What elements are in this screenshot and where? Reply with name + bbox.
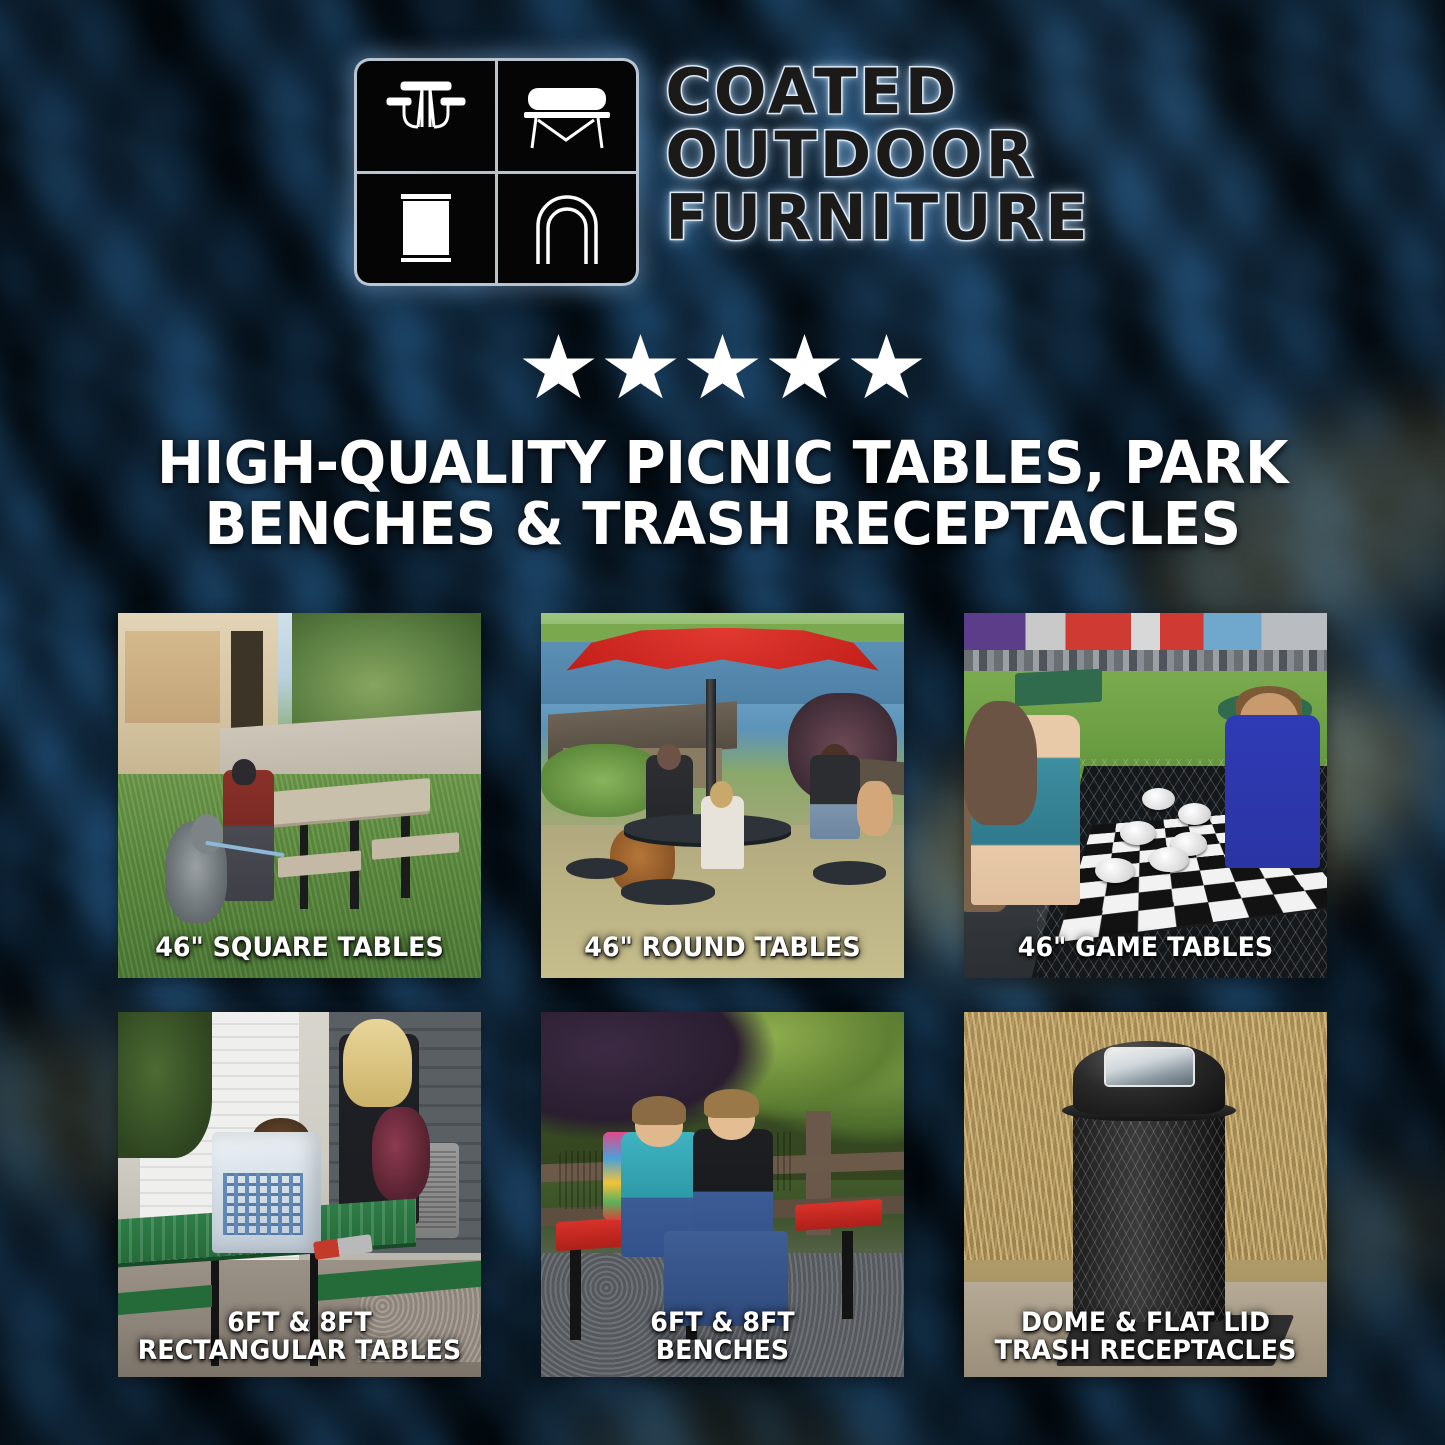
product-tile-caption: 6FT & 8FT BENCHES: [558, 1309, 888, 1365]
caption-line: BENCHES: [558, 1337, 888, 1365]
page-headline: HIGH-QUALITY PICNIC TABLES, PARK BENCHES…: [93, 432, 1352, 555]
product-tile-caption: 46" SQUARE TABLES: [135, 934, 465, 962]
product-tile-benches[interactable]: 6FT & 8FT BENCHES: [541, 1012, 904, 1377]
star-icon: [523, 334, 595, 404]
arch-bike-rack-icon: [498, 174, 636, 284]
headline-line-1: HIGH-QUALITY PICNIC TABLES, PARK: [93, 432, 1352, 493]
picnic-table-icon: [357, 61, 495, 171]
logo-mark: [354, 58, 639, 286]
brand-name-line-2: OUTDOOR: [665, 125, 1090, 186]
product-tile-round-tables[interactable]: 46" ROUND TABLES: [541, 613, 904, 978]
product-photo: [541, 613, 904, 978]
product-tile-caption: DOME & FLAT LID TRASH RECEPTACLES: [981, 1309, 1311, 1365]
star-rating: [0, 334, 1445, 404]
product-tile-caption: 46" ROUND TABLES: [558, 934, 888, 962]
brand-logo: COATED OUTDOOR FURNITURE: [0, 58, 1445, 286]
star-icon: [769, 334, 841, 404]
caption-line: 46" ROUND TABLES: [558, 934, 888, 962]
product-tile-caption: 6FT & 8FT RECTANGULAR TABLES: [135, 1309, 465, 1365]
caption-line: 46" SQUARE TABLES: [135, 934, 465, 962]
product-photo: [964, 613, 1327, 978]
product-tile-caption: 46" GAME TABLES: [981, 934, 1311, 962]
caption-line: RECTANGULAR TABLES: [135, 1337, 465, 1365]
brand-name-line-3: FURNITURE: [665, 188, 1090, 249]
product-category-grid: 46" SQUARE TABLES: [118, 613, 1327, 1377]
bench-icon: [498, 61, 636, 171]
caption-line: DOME & FLAT LID: [981, 1309, 1311, 1337]
brand-wordmark: COATED OUTDOOR FURNITURE: [665, 58, 1090, 248]
caption-line: 6FT & 8FT: [558, 1309, 888, 1337]
product-tile-game-tables[interactable]: 46" GAME TABLES: [964, 613, 1327, 978]
brand-name-line-1: COATED: [665, 62, 1090, 123]
product-photo: [118, 613, 481, 978]
caption-line: 6FT & 8FT: [135, 1309, 465, 1337]
product-tile-trash-receptacles[interactable]: DOME & FLAT LID TRASH RECEPTACLES: [964, 1012, 1327, 1377]
product-tile-square-tables[interactable]: 46" SQUARE TABLES: [118, 613, 481, 978]
star-icon: [851, 334, 923, 404]
caption-line: TRASH RECEPTACLES: [981, 1337, 1311, 1365]
headline-line-2: BENCHES & TRASH RECEPTACLES: [93, 493, 1352, 554]
star-icon: [605, 334, 677, 404]
product-tile-rectangular-tables[interactable]: 6FT & 8FT RECTANGULAR TABLES: [118, 1012, 481, 1377]
trash-receptacle-icon: [357, 174, 495, 284]
star-icon: [687, 334, 759, 404]
caption-line: 46" GAME TABLES: [981, 934, 1311, 962]
